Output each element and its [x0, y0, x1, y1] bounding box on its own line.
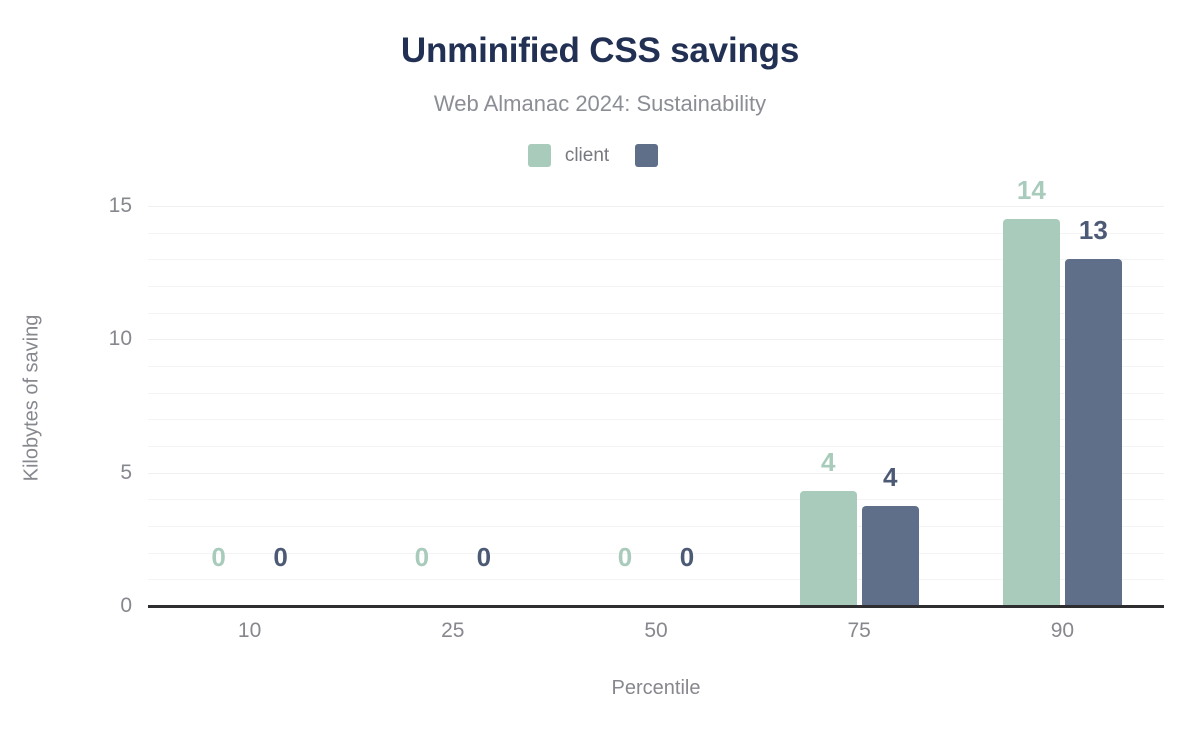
bar-value-label: 14 [1017, 175, 1046, 206]
legend-label-client: client [565, 145, 609, 167]
legend-entry-secondary[interactable] [635, 144, 672, 167]
y-axis-tick-label: 5 [120, 461, 132, 485]
x-axis-tick-label: 50 [644, 619, 667, 643]
chart-title: Unminified CSS savings [0, 31, 1200, 71]
legend-swatch-client-icon [528, 144, 551, 167]
legend-entry-client[interactable]: client [528, 144, 609, 167]
bar-value-label: 0 [415, 542, 429, 573]
bar-value-label: 13 [1079, 215, 1108, 246]
legend-spacer [609, 155, 635, 156]
bar-value-label: 0 [273, 542, 287, 573]
bar[interactable] [1065, 259, 1122, 606]
bar[interactable] [800, 491, 857, 606]
x-axis-tick-label: 75 [848, 619, 871, 643]
bar[interactable] [862, 506, 919, 606]
y-axis-title: Kilobytes of saving [21, 315, 44, 482]
x-axis-tick-label: 25 [441, 619, 464, 643]
bar-value-label: 4 [883, 462, 897, 493]
x-axis-tick-label: 10 [238, 619, 261, 643]
x-axis-line [148, 605, 1164, 608]
bar-value-label: 0 [618, 542, 632, 573]
x-axis-title: Percentile [148, 677, 1164, 700]
y-axis-tick-label: 15 [109, 194, 132, 218]
y-axis-tick-label: 10 [109, 327, 132, 351]
bar-chart: Unminified CSS savings Web Almanac 2024:… [0, 0, 1200, 742]
bar-value-label: 0 [211, 542, 225, 573]
chart-legend: client [0, 144, 1200, 167]
gridline [148, 206, 1164, 207]
chart-subtitle: Web Almanac 2024: Sustainability [0, 91, 1200, 117]
bar[interactable] [1003, 219, 1060, 606]
plot-area [148, 190, 1164, 606]
legend-swatch-secondary-icon [635, 144, 658, 167]
bar-value-label: 0 [680, 542, 694, 573]
x-axis-tick-label: 90 [1051, 619, 1074, 643]
y-axis-tick-label: 0 [120, 594, 132, 618]
bar-value-label: 4 [821, 447, 835, 478]
bar-value-label: 0 [477, 542, 491, 573]
